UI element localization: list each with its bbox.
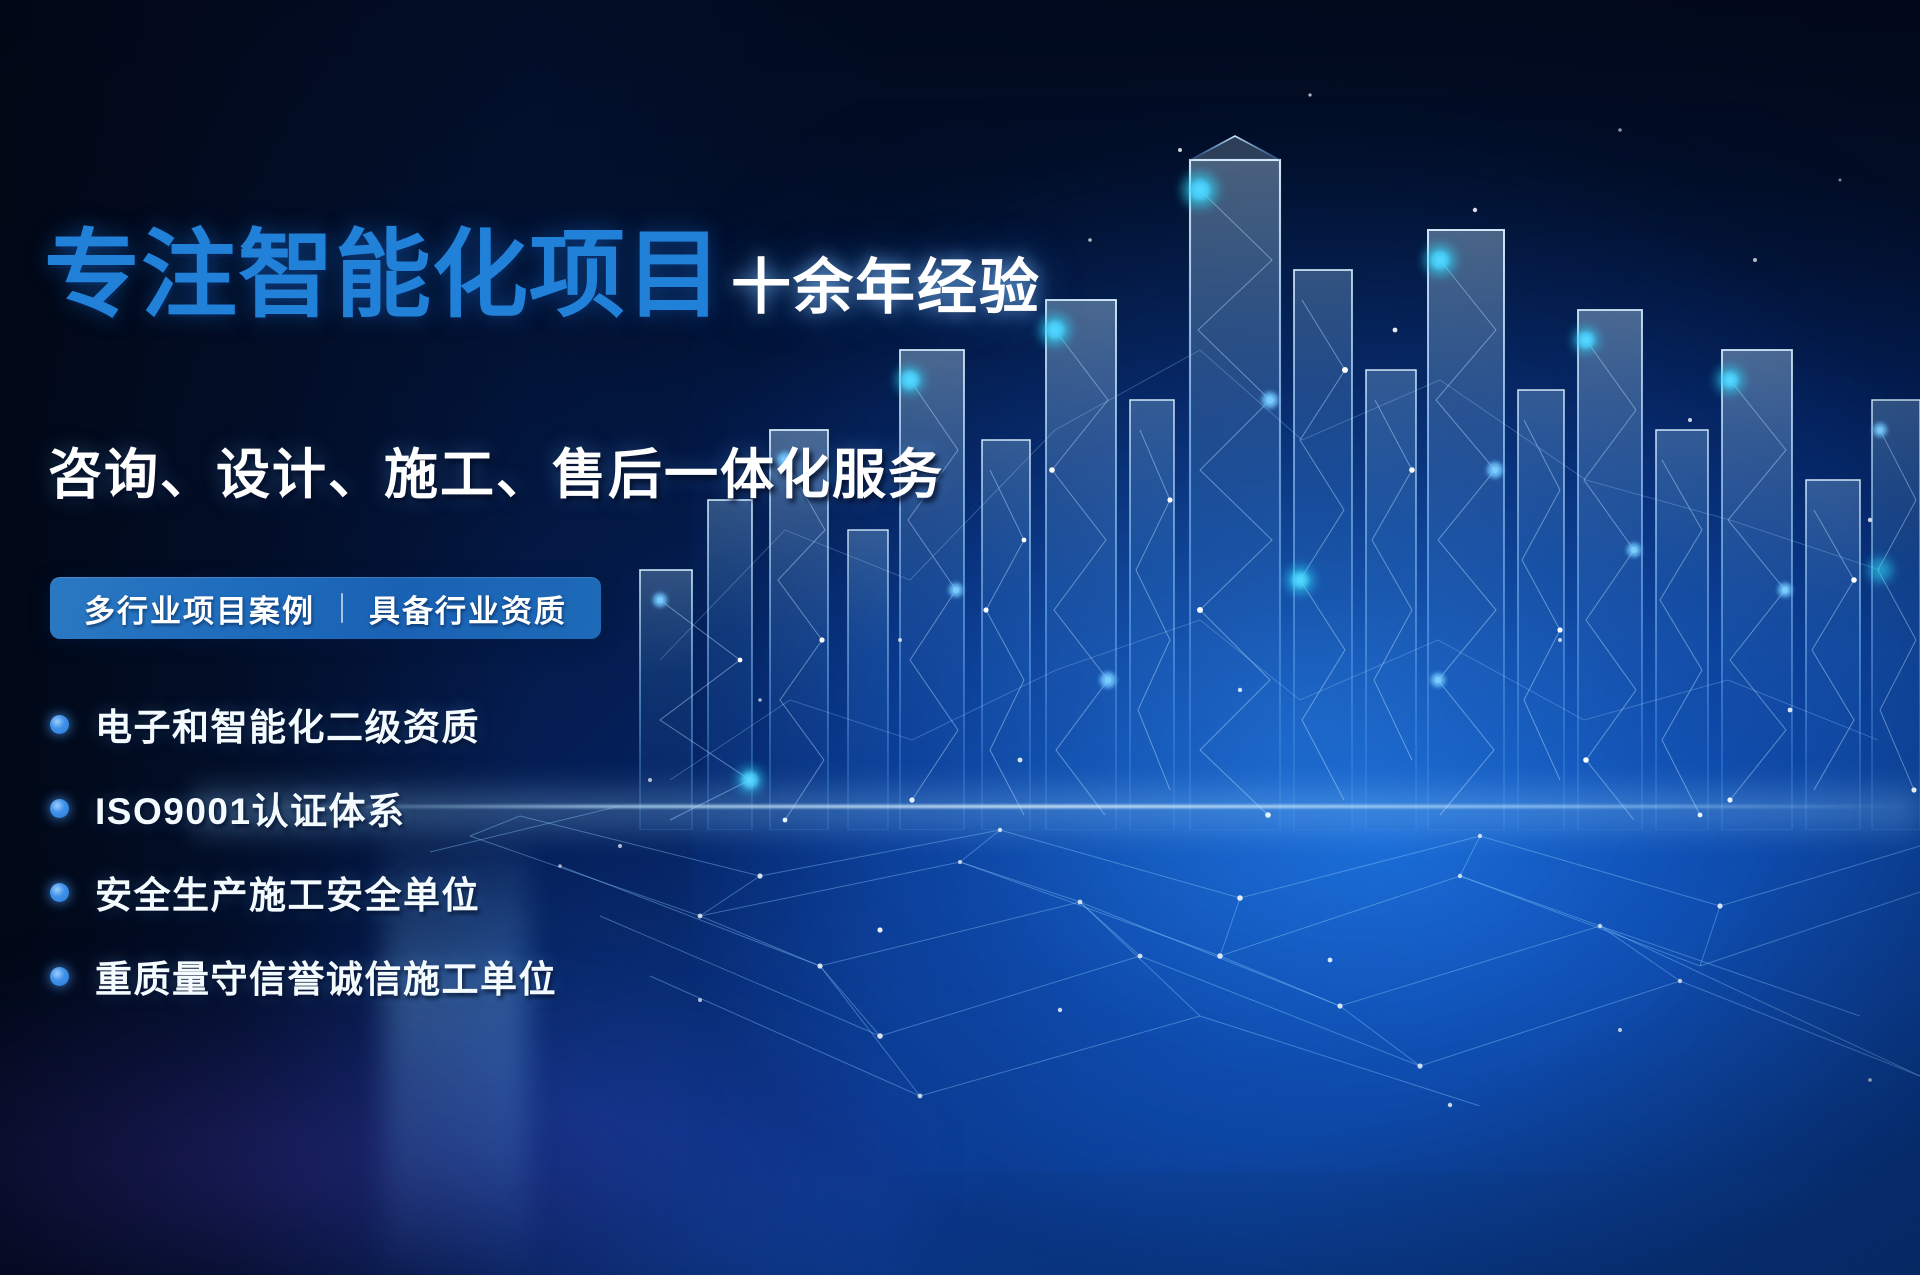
list-item: ISO9001认证体系: [50, 774, 690, 842]
list-item-label: 重质量守信誉诚信施工单位: [95, 949, 557, 1003]
banner-content: 专注智能化项目 十余年经验 咨询、设计、施工、售后一体化服务 多行业项目案例 具…: [0, 0, 700, 1275]
headline-main: 专注智能化项目: [44, 228, 723, 324]
qualification-list: 电子和智能化二级资质 ISO9001认证体系 安全生产施工安全单位 重质量守信誉…: [50, 690, 690, 1026]
hero-banner: 专注智能化项目 十余年经验 咨询、设计、施工、售后一体化服务 多行业项目案例 具…: [0, 0, 1920, 1275]
pill-label-left: 多行业项目案例: [84, 586, 315, 631]
headline: 专注智能化项目 十余年经验: [44, 228, 1041, 324]
pill-label-right: 具备行业资质: [369, 586, 567, 631]
list-item-label: 安全生产施工安全单位: [95, 865, 480, 919]
list-item-label: 电子和智能化二级资质: [95, 697, 480, 751]
headline-sub: 十余年经验: [731, 258, 1041, 324]
bullet-dot-icon: [50, 967, 69, 986]
list-item-label: ISO9001认证体系: [95, 781, 406, 835]
bullet-dot-icon: [50, 715, 69, 734]
subtitle: 咨询、设计、施工、售后一体化服务: [48, 448, 944, 502]
list-item: 安全生产施工安全单位: [50, 858, 690, 926]
bullet-dot-icon: [50, 883, 69, 902]
pill-separator: [341, 593, 343, 623]
highlight-pill[interactable]: 多行业项目案例 具备行业资质: [50, 577, 601, 639]
bullet-dot-icon: [50, 799, 69, 818]
list-item: 电子和智能化二级资质: [50, 690, 690, 758]
list-item: 重质量守信誉诚信施工单位: [50, 942, 690, 1010]
